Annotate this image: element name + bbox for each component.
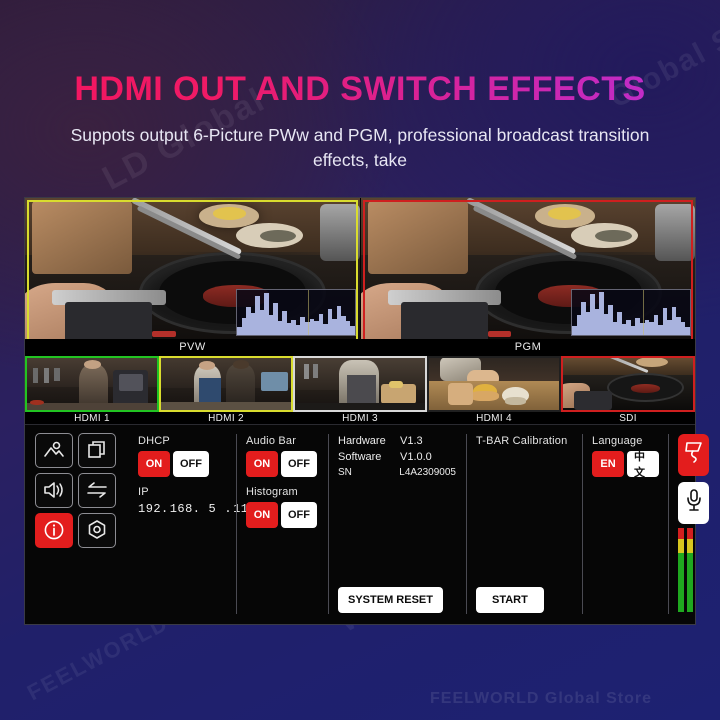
ip-octet-3[interactable]: 5	[201, 502, 223, 516]
audio-meter-channel-1	[678, 528, 684, 612]
system-info-section: Hardware V1.3 Software V1.0.0 SN L4A2309…	[328, 430, 466, 618]
layers-icon-button[interactable]	[78, 433, 116, 468]
device-screen: PVW	[24, 197, 696, 625]
thumbnail-hdmi-1[interactable]	[25, 356, 159, 412]
watermark-f: FEELWORLD Global Store	[430, 690, 652, 708]
audio-level-meters	[678, 528, 709, 614]
meter-1-yellow	[678, 539, 684, 553]
thumbnail-label-row: HDMI 1 HDMI 2 HDMI 3 HDMI 4 SDI	[25, 412, 695, 424]
ip-dot-2: .	[192, 502, 202, 516]
sn-label: SN	[338, 467, 399, 478]
histogram-toggle-group: ON OFF	[246, 502, 318, 528]
main-preview-row: PVW	[25, 198, 695, 356]
page-subtitle: Suppots output 6-Picture PWw and PGM, pr…	[0, 123, 720, 174]
software-label: Software	[338, 451, 400, 463]
control-panel: DHCP ON OFF IP 192. 168. 5. 110 Audio Ba…	[25, 424, 695, 624]
hardware-value: V1.3	[400, 435, 423, 447]
settings-icon	[86, 519, 108, 541]
ip-label: IP	[138, 486, 226, 498]
page-header: HDMI OUT AND SWITCH EFFECTS Suppots outp…	[0, 70, 720, 174]
tbar-start-button[interactable]: START	[476, 587, 544, 613]
sn-value: L4A2309005	[399, 467, 456, 478]
meter-2-red	[687, 528, 693, 539]
audio-bar-off-button[interactable]: OFF	[281, 451, 317, 477]
thumbnail-hdmi-3[interactable]	[293, 356, 427, 412]
software-version-row: Software V1.0.0	[338, 451, 456, 463]
source-thumbnail-row	[25, 356, 695, 412]
audio-bar-label: Audio Bar	[246, 435, 318, 447]
info-icon	[43, 519, 65, 541]
settings-icon-button[interactable]	[78, 513, 116, 548]
kitchen-scene-2	[159, 356, 293, 412]
meter-buttons	[678, 434, 709, 524]
audio-bar-toggle-group: ON OFF	[246, 451, 318, 477]
tbar-label: T-BAR Calibration	[476, 435, 572, 447]
ip-dot-1: .	[160, 502, 170, 516]
audio-meter-section	[668, 430, 715, 618]
meter-1-red	[678, 528, 684, 539]
hardware-version-row: Hardware V1.3	[338, 435, 456, 447]
image-icon	[43, 441, 65, 459]
meter-2-yellow	[687, 539, 693, 553]
pane-pvw[interactable]: PVW	[25, 198, 360, 356]
software-value: V1.0.0	[400, 451, 432, 463]
swap-icon-button[interactable]	[78, 473, 116, 508]
histogram-label: Histogram	[246, 486, 318, 498]
system-reset-button[interactable]: SYSTEM RESET	[338, 587, 443, 613]
microphone-icon	[685, 488, 703, 517]
histogram-off-button[interactable]: OFF	[281, 502, 317, 528]
pvw-histogram	[236, 289, 356, 336]
thumbnail-label-hdmi-1: HDMI 1	[25, 412, 159, 424]
pane-pgm[interactable]: PGM	[360, 198, 695, 356]
network-section: DHCP ON OFF IP 192. 168. 5. 110	[128, 430, 236, 618]
microphone-icon-button[interactable]	[678, 482, 709, 524]
language-section: Language EN 中文	[582, 430, 668, 618]
dhcp-toggle-group: ON OFF	[138, 451, 226, 477]
language-toggle-group: EN 中文	[592, 451, 658, 477]
volume-icon	[43, 481, 65, 499]
screen-icon	[684, 440, 704, 469]
ip-address-field[interactable]: 192. 168. 5. 110	[138, 502, 226, 516]
info-icon-button[interactable]	[35, 513, 73, 548]
kitchen-scene-5	[561, 356, 695, 412]
hardware-label: Hardware	[338, 435, 400, 447]
image-icon-button[interactable]	[35, 433, 73, 468]
thumbnail-label-sdi: SDI	[561, 412, 695, 424]
ip-dot-3: .	[223, 502, 233, 516]
pgm-label: PGM	[361, 339, 695, 356]
layers-icon	[87, 440, 107, 460]
kitchen-scene-1	[25, 356, 159, 412]
thumbnail-label-hdmi-3: HDMI 3	[293, 412, 427, 424]
thumbnail-label-hdmi-4: HDMI 4	[427, 412, 561, 424]
thumbnail-hdmi-4[interactable]	[427, 356, 561, 412]
language-en-button[interactable]: EN	[592, 451, 624, 477]
language-zh-button[interactable]: 中文	[627, 451, 659, 477]
screen-icon-button[interactable]	[678, 434, 709, 476]
thumbnail-sdi[interactable]	[561, 356, 695, 412]
dhcp-label: DHCP	[138, 435, 226, 447]
audio-meter-channel-2	[687, 528, 693, 612]
histogram-on-button[interactable]: ON	[246, 502, 278, 528]
meter-2-green	[687, 553, 693, 612]
kitchen-scene-3	[293, 356, 427, 412]
swap-icon	[86, 481, 108, 499]
pvw-label: PVW	[25, 339, 360, 356]
pgm-histogram	[571, 289, 691, 336]
serial-number-row: SN L4A2309005	[338, 467, 456, 478]
volume-icon-button[interactable]	[35, 473, 73, 508]
tbar-section: T-BAR Calibration START	[466, 430, 582, 618]
thumbnail-hdmi-2[interactable]	[159, 356, 293, 412]
audio-bar-on-button[interactable]: ON	[246, 451, 278, 477]
kitchen-scene-4	[427, 356, 561, 412]
ip-octet-1[interactable]: 192	[138, 502, 160, 516]
dhcp-on-button[interactable]: ON	[138, 451, 170, 477]
display-section: Audio Bar ON OFF Histogram ON OFF	[236, 430, 328, 618]
language-label: Language	[592, 435, 658, 447]
ip-octet-2[interactable]: 168	[170, 502, 192, 516]
panel-icon-grid	[29, 430, 128, 618]
dhcp-off-button[interactable]: OFF	[173, 451, 209, 477]
page-title: HDMI OUT AND SWITCH EFFECTS	[0, 70, 720, 109]
meter-1-green	[678, 553, 684, 612]
thumbnail-label-hdmi-2: HDMI 2	[159, 412, 293, 424]
